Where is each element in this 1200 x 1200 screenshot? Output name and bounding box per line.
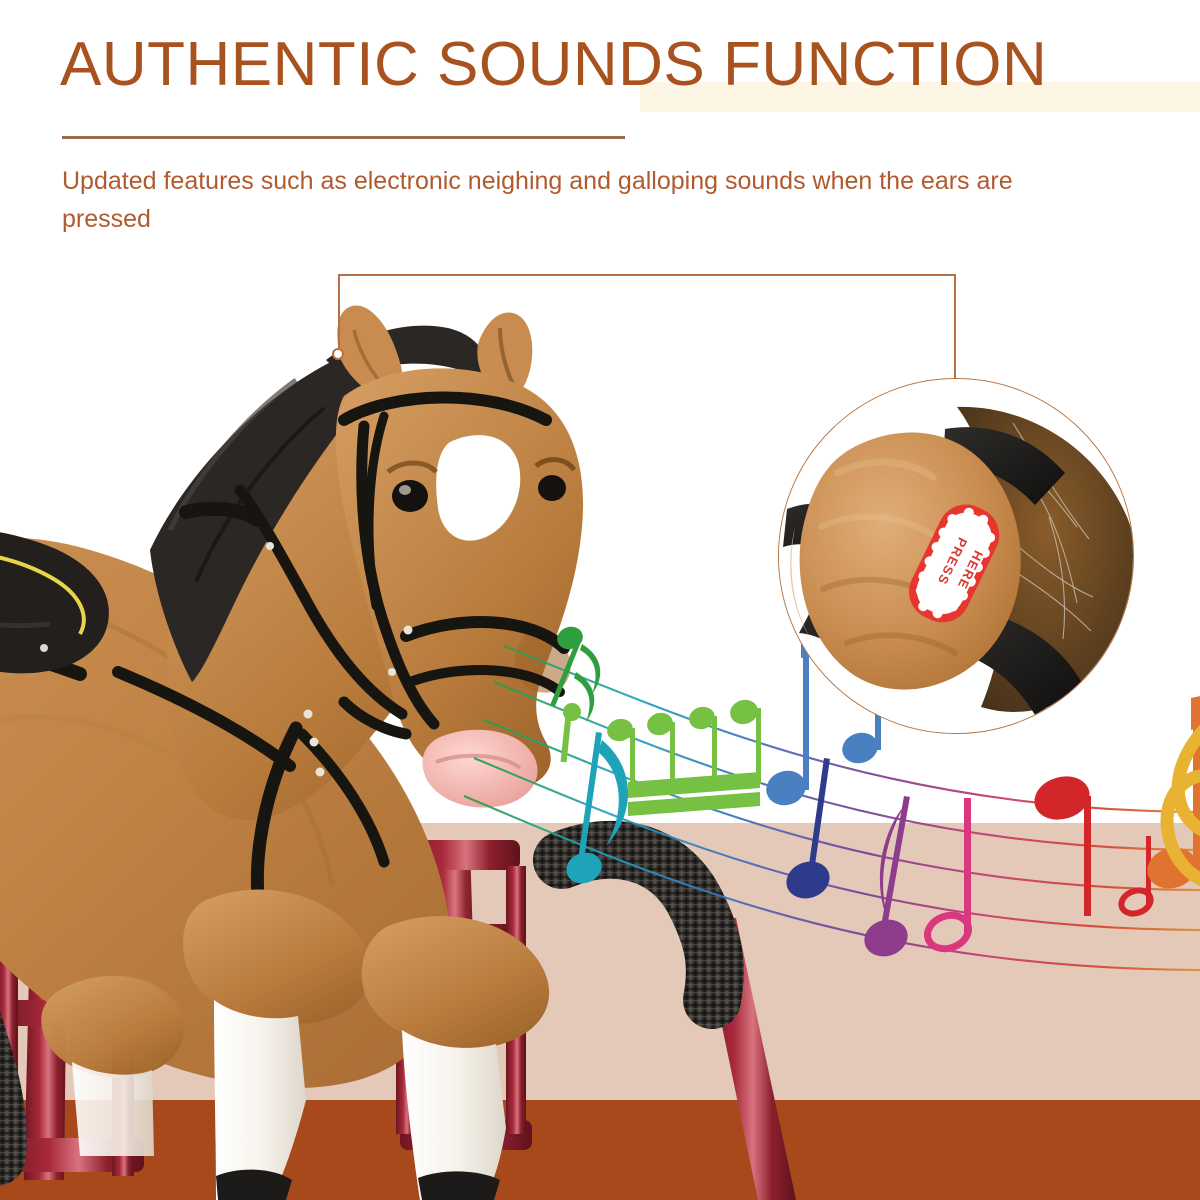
page-title: AUTHENTIC SOUNDS FUNCTION: [60, 34, 1190, 96]
front-hoof-right: [418, 1171, 500, 1200]
callout-line-to-ear: [338, 275, 340, 355]
promo-banner: AUTHENTIC SOUNDS FUNCTION Updated featur…: [0, 0, 1200, 1200]
horse-mouth: [422, 730, 537, 808]
ear-closeup-inset: PRESS HERE: [778, 378, 1134, 734]
rocking-horse-illustration: [0, 300, 730, 1200]
callout-line-to-inset: [954, 274, 956, 379]
front-sock-left: [214, 1000, 306, 1200]
callout-marker-dot: [332, 348, 344, 360]
page-subtitle: Updated features such as electronic neig…: [62, 162, 1022, 238]
horse-eye-right: [538, 475, 566, 501]
callout-line-horizontal: [338, 274, 956, 276]
horse-eye-left: [392, 480, 428, 512]
title-divider: [62, 136, 625, 139]
